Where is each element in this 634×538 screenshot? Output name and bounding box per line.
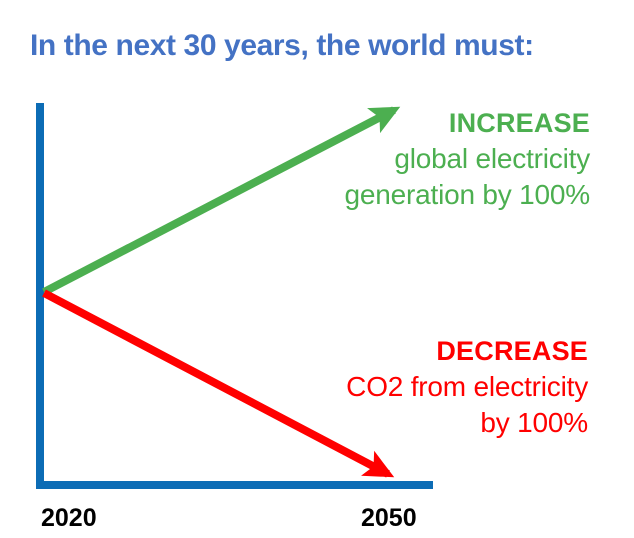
decrease-callout: DECREASE CO2 from electricity by 100%	[250, 333, 588, 441]
x-axis-tick-start: 2020	[41, 503, 97, 533]
decrease-heading: DECREASE	[250, 333, 588, 369]
increase-heading: INCREASE	[250, 105, 590, 141]
increase-line-2: generation by 100%	[250, 177, 590, 213]
infographic-canvas: In the next 30 years, the world must: IN…	[0, 0, 634, 538]
x-axis-tick-end: 2050	[361, 503, 417, 533]
increase-callout: INCREASE global electricity generation b…	[250, 105, 590, 213]
increase-line-1: global electricity	[250, 141, 590, 177]
decrease-line-2: by 100%	[250, 405, 588, 441]
decrease-line-1: CO2 from electricity	[250, 369, 588, 405]
arrow-chart	[0, 0, 634, 538]
